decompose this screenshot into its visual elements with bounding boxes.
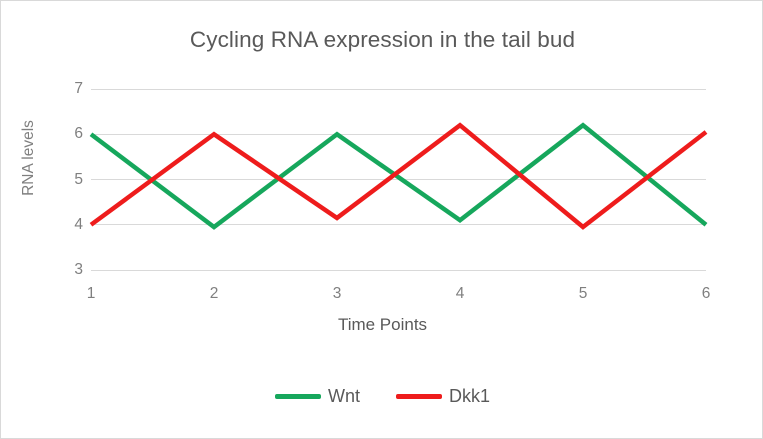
chart-title: Cycling RNA expression in the tail bud xyxy=(1,27,763,53)
x-tick-label: 5 xyxy=(563,285,603,303)
gridline xyxy=(91,270,706,271)
x-tick-label: 1 xyxy=(71,285,111,303)
y-tick-label: 7 xyxy=(53,80,83,98)
legend-item-wnt[interactable]: Wnt xyxy=(275,386,360,407)
legend-label: Dkk1 xyxy=(449,386,490,407)
chart-legend: Wnt Dkk1 xyxy=(1,386,763,407)
x-axis-title: Time Points xyxy=(1,315,763,335)
y-tick-label: 6 xyxy=(53,125,83,143)
chart-card: Cycling RNA expression in the tail bud 7… xyxy=(0,0,763,439)
x-tick-label: 4 xyxy=(440,285,480,303)
legend-item-dkk1[interactable]: Dkk1 xyxy=(396,386,490,407)
x-axis-ticks: 1 2 3 4 5 6 xyxy=(91,285,706,307)
y-tick-label: 5 xyxy=(53,171,83,189)
x-tick-label: 2 xyxy=(194,285,234,303)
line-series-wnt xyxy=(91,125,706,227)
y-axis-ticks: 7 6 5 4 3 xyxy=(51,89,83,270)
series-lines xyxy=(91,89,706,270)
x-tick-label: 6 xyxy=(686,285,726,303)
y-tick-label: 4 xyxy=(53,216,83,234)
legend-label: Wnt xyxy=(328,386,360,407)
y-tick-label: 3 xyxy=(53,261,83,279)
x-tick-label: 3 xyxy=(317,285,357,303)
legend-swatch-icon xyxy=(275,394,321,399)
plot-area xyxy=(91,89,706,270)
y-axis-title: RNA levels xyxy=(20,103,38,213)
legend-swatch-icon xyxy=(396,394,442,399)
